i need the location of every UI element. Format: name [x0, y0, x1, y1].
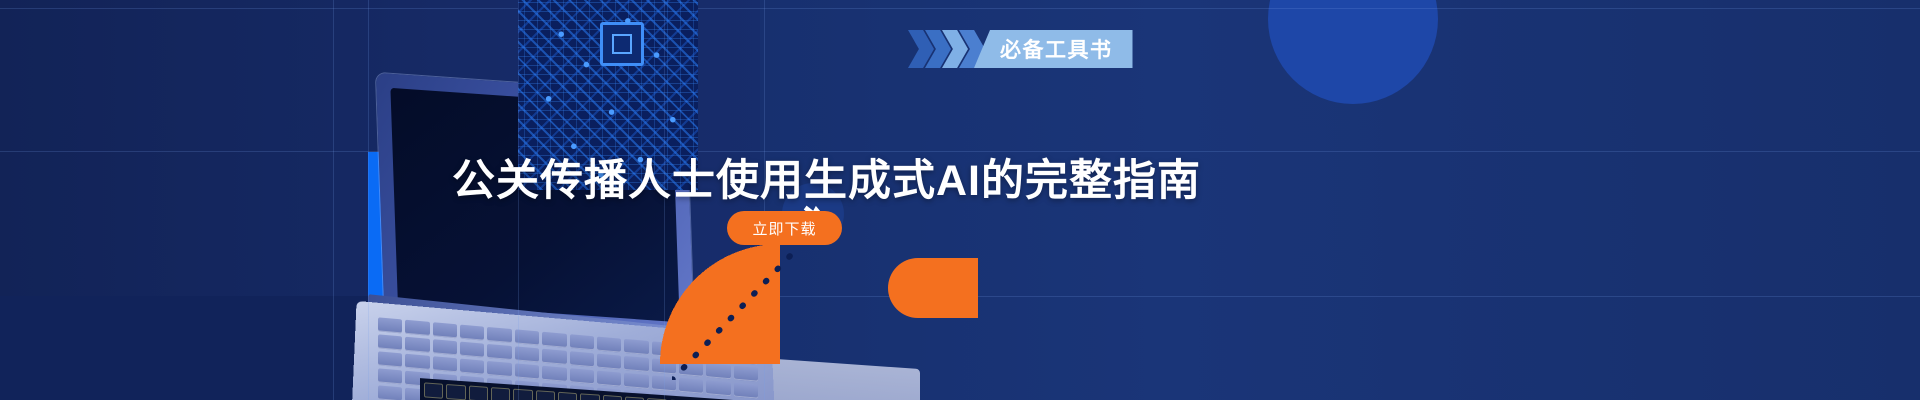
keyboard-key — [679, 378, 703, 394]
keyboard-key — [597, 371, 621, 387]
keyboard-key — [460, 342, 484, 358]
keyboard-key — [542, 349, 566, 365]
keyboard-key-backlit — [536, 390, 555, 400]
circuit-chip-icon — [600, 22, 644, 66]
keyboard-key — [570, 368, 594, 384]
keyboard-key — [378, 317, 402, 333]
keyboard-key — [460, 325, 484, 341]
background-dark-strip — [0, 296, 368, 400]
keyboard-key-backlit — [580, 393, 599, 400]
keyboard-key-backlit — [603, 395, 622, 400]
grid-line-vertical — [333, 0, 334, 400]
keyboard-key — [706, 380, 730, 396]
keyboard-key — [570, 334, 594, 350]
keyboard-key — [487, 327, 511, 343]
promo-banner: 必备工具书 公关传播人士使用生成式AI的完整指南 立即下载 — [0, 0, 1920, 400]
keyboard-key — [405, 337, 429, 353]
keyboard-key — [378, 385, 402, 400]
keyboard-key — [378, 351, 402, 367]
keyboard-key — [487, 361, 511, 377]
orange-blob-shape — [888, 258, 978, 318]
keyboard-key — [542, 366, 566, 382]
keyboard-key-backlit — [491, 387, 510, 400]
badge-label: 必备工具书 — [1000, 34, 1113, 64]
grid-line-vertical — [368, 0, 369, 400]
keyboard-key-backlit — [424, 382, 443, 398]
dotted-diagonal-line — [672, 250, 802, 380]
grid-line-horizontal — [0, 8, 1920, 9]
keyboard-key — [405, 320, 429, 336]
badge-plate: 必备工具书 — [974, 30, 1133, 68]
keyboard-key — [542, 332, 566, 348]
keyboard-key — [378, 334, 402, 350]
keyboard-key — [433, 322, 457, 338]
keyboard-key — [597, 354, 621, 370]
keyboard-key-backlit — [469, 386, 488, 400]
page-title: 公关传播人士使用生成式AI的完整指南 — [452, 146, 1201, 208]
keyboard-key — [734, 382, 758, 398]
keyboard-key — [487, 344, 511, 360]
keyboard-key — [460, 359, 484, 375]
keyboard-key-backlit — [446, 384, 465, 400]
keyboard-key — [624, 373, 648, 389]
badge: 必备工具书 — [908, 30, 1133, 68]
keyboard-key — [624, 339, 648, 355]
keyboard-key — [433, 339, 457, 355]
keyboard-key — [405, 354, 429, 370]
keyboard-key — [570, 351, 594, 367]
keyboard-key-backlit — [558, 392, 577, 400]
download-button[interactable]: 立即下载 — [727, 211, 842, 245]
keyboard-key — [433, 356, 457, 372]
keyboard-key — [378, 368, 402, 384]
keyboard-key-backlit — [513, 389, 532, 400]
keyboard-key — [597, 337, 621, 353]
keyboard-key — [624, 356, 648, 372]
keyboard-key-backlit — [625, 396, 644, 400]
